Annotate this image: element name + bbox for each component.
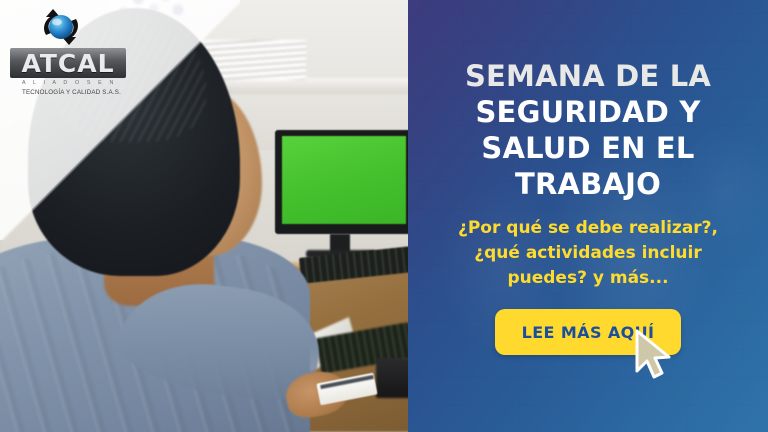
refresh-sphere-icon <box>32 4 90 50</box>
green-screen-monitor <box>282 136 406 224</box>
subheadline: ¿Por qué se debe realizar?, ¿qué activid… <box>433 216 743 291</box>
headline: SEMANA DE LA SEGURIDAD Y SALUD EN EL TRA… <box>428 58 748 202</box>
logo-tagline-primary: A L I A D O S E N <box>22 80 116 86</box>
headline-line-2: SEGURIDAD Y <box>428 94 748 130</box>
atcal-logo[interactable]: ATCAL A L I A D O S E N TECNOLOGÍA Y CAL… <box>10 2 130 102</box>
headline-line-4: TRABAJO <box>428 166 748 202</box>
read-more-button[interactable]: LEE MÁS AQUÍ <box>495 309 681 355</box>
logo-wordmark-text: ATCAL <box>21 51 114 76</box>
subheadline-line-2: ¿qué actividades incluir <box>433 241 743 266</box>
logo-wordmark: ATCAL <box>10 48 126 78</box>
panel-content: SEMANA DE LA SEGURIDAD Y SALUD EN EL TRA… <box>408 0 768 432</box>
headline-line-1: SEMANA DE LA <box>428 58 748 94</box>
subheadline-line-3: puedes? y más... <box>433 266 743 291</box>
desk-equipment-box <box>376 358 412 398</box>
logo-tagline-secondary: TECNOLOGÍA Y CALIDAD S.A.S. <box>22 89 121 96</box>
cta-container: LEE MÁS AQUÍ <box>495 309 681 355</box>
promo-banner: ATCAL A L I A D O S E N TECNOLOGÍA Y CAL… <box>0 0 768 432</box>
subheadline-line-1: ¿Por qué se debe realizar?, <box>433 216 743 241</box>
headline-line-3: SALUD EN EL <box>428 130 748 166</box>
content-panel: SEMANA DE LA SEGURIDAD Y SALUD EN EL TRA… <box>408 0 768 432</box>
